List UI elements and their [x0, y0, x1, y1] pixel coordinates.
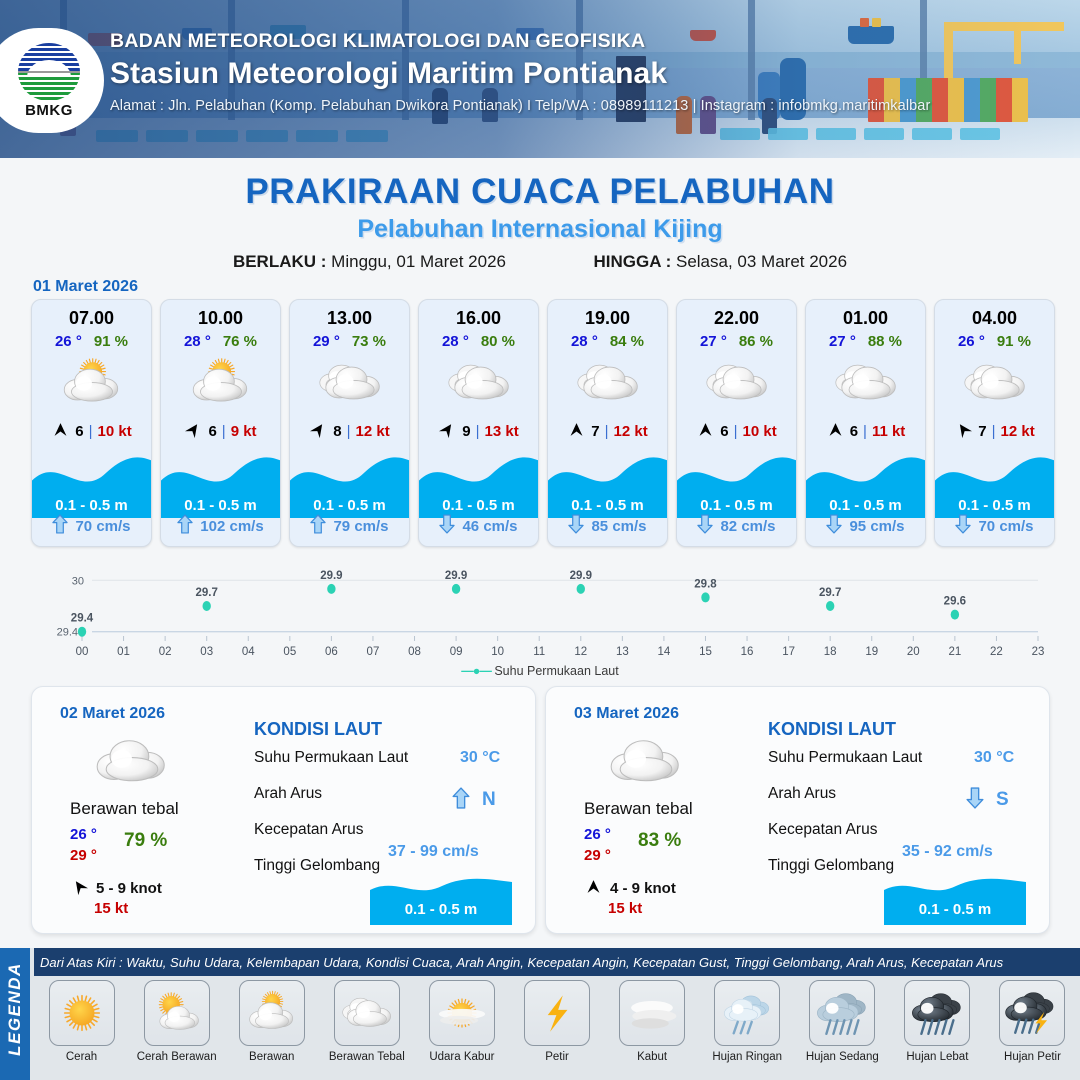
legend-item: Cerah: [34, 980, 129, 1063]
card-temperature: 26 °: [958, 333, 985, 350]
wave-graphic: 0.1 - 0.5 m 95 cm/s: [806, 452, 925, 546]
svg-text:20: 20: [907, 646, 920, 658]
legend-label: Hujan Ringan: [712, 1051, 782, 1063]
legend-label: Berawan Tebal: [329, 1051, 405, 1063]
panel-date: 02 Maret 2026: [60, 705, 165, 723]
legend-icon-light-rain: [714, 980, 780, 1046]
panel-wind: 4 - 9 knot: [584, 877, 676, 900]
page-title: PRAKIRAAN CUACA PELABUHAN: [0, 172, 1080, 212]
hourly-forecast-strip: 07.00 26 ° 91 % 6 | 10 k: [31, 299, 1055, 547]
legend-item: Berawan: [224, 980, 319, 1063]
current-direction-arrow: [452, 787, 470, 809]
sea-wave-value: 0.1 - 0.5 m: [884, 894, 1026, 925]
svg-text:23: 23: [1032, 646, 1045, 658]
separator: |: [605, 423, 609, 440]
weather-icon-cloudy: [419, 354, 538, 412]
wave-graphic: 0.1 - 0.5 m 85 cm/s: [548, 452, 667, 546]
card-gust: 13 kt: [485, 423, 519, 440]
panel-temp-max: 29 °: [70, 847, 97, 864]
card-current-speed: 79 cm/s: [333, 518, 388, 535]
legend-label: Hujan Petir: [1004, 1051, 1061, 1063]
legend-item: Petir: [509, 980, 604, 1063]
svg-text:21: 21: [948, 646, 961, 658]
card-current-speed: 70 cm/s: [75, 518, 130, 535]
card-gust: 10 kt: [743, 423, 777, 440]
hourly-card: 22.00 27 ° 86 %: [676, 299, 797, 547]
legend-item: Berawan Tebal: [319, 980, 414, 1063]
panel-gust: 15 kt: [94, 900, 128, 917]
card-gust: 12 kt: [614, 423, 648, 440]
sea-sst-value: 30 °C: [460, 749, 500, 767]
bmkg-logo-text: BMKG: [25, 102, 73, 119]
panel-condition: Berawan tebal: [584, 799, 693, 819]
legend-icon-haze: [429, 980, 495, 1046]
wind-arrow-wrap: [184, 420, 203, 443]
card-wind-number: 6: [720, 423, 728, 440]
wind-arrow-wrap: [567, 420, 586, 443]
sea-wave-value: 0.1 - 0.5 m: [370, 894, 512, 925]
hourly-card: 19.00 28 ° 84 %: [547, 299, 668, 547]
svg-text:00: 00: [76, 646, 89, 658]
svg-text:30: 30: [72, 575, 84, 587]
svg-text:29.8: 29.8: [694, 578, 717, 590]
svg-text:09: 09: [450, 646, 463, 658]
wind-arrow-wrap: [309, 420, 328, 443]
station-address: Alamat : Jln. Pelabuhan (Komp. Pelabuhan…: [110, 98, 930, 114]
current-direction-arrow: [52, 514, 68, 534]
legend-item: Hujan Lebat: [890, 980, 985, 1063]
weather-icon-cloudy: [935, 354, 1054, 412]
legend-icon-partly-cloudy: [239, 980, 305, 1046]
card-temperature: 28 °: [571, 333, 598, 350]
wind-direction-arrow: [438, 420, 457, 439]
current-arrow-wrap: [177, 514, 193, 538]
sea-row-label: Kecepatan Arus: [768, 821, 877, 839]
separator: |: [992, 423, 996, 440]
current-direction-arrow: [568, 514, 584, 534]
weather-icon-cloudy: [290, 354, 409, 412]
wind-arrow-wrap: [584, 877, 603, 900]
svg-text:29.7: 29.7: [819, 587, 841, 599]
card-humidity: 80 %: [481, 333, 515, 350]
svg-text:02: 02: [159, 646, 172, 658]
current-arrow-wrap: [826, 514, 842, 538]
legend-icon-cloudy: [334, 980, 400, 1046]
wind-direction-arrow: [696, 420, 715, 439]
wind-direction-arrow: [309, 420, 328, 439]
wind-arrow-wrap: [438, 420, 457, 443]
page-header: BMKG BADAN METEOROLOGI KLIMATOLOGI DAN G…: [0, 0, 1080, 158]
separator: |: [734, 423, 738, 440]
card-time: 13.00: [290, 308, 409, 329]
card-temperature: 28 °: [184, 333, 211, 350]
hingga-label: HINGGA :: [593, 252, 671, 271]
card-time: 10.00: [161, 308, 280, 329]
card-humidity: 91 %: [997, 333, 1031, 350]
sst-chart: 3029.40001020304050607080910111213141516…: [30, 560, 1050, 680]
legend-item: Kabut: [605, 980, 700, 1063]
hourly-card: 10.00 28 ° 76 % 6 | 9 kt: [160, 299, 281, 547]
wind-direction-arrow: [184, 420, 203, 439]
wind-direction-arrow: [567, 420, 586, 439]
legend-label: Hujan Sedang: [806, 1051, 879, 1063]
legend-icon-sun: [49, 980, 115, 1046]
panel-temp-max: 29 °: [584, 847, 611, 864]
current-direction-arrow: [826, 514, 842, 534]
separator: |: [476, 423, 480, 440]
legend-icon-moderate-rain: [809, 980, 875, 1046]
berlaku-label: BERLAKU :: [233, 252, 327, 271]
panel-temp-min: 26 °: [70, 826, 97, 843]
svg-text:29.7: 29.7: [196, 587, 218, 599]
panel-date: 03 Maret 2026: [574, 705, 679, 723]
daily-forecast-panel: 03 Maret 2026 Berawan tebal 26 ° 29 ° 83…: [545, 686, 1050, 934]
svg-text:11: 11: [533, 646, 545, 658]
sea-row-label: Tinggi Gelombang: [768, 857, 894, 875]
legend-icon-thunderstorm: [999, 980, 1065, 1046]
card-humidity: 91 %: [94, 333, 128, 350]
legend-icon-sun-cloud: [144, 980, 210, 1046]
legend-item: Hujan Petir: [985, 980, 1080, 1063]
svg-text:29.9: 29.9: [320, 570, 342, 582]
sea-row-label: Arah Arus: [768, 785, 836, 803]
legend-label: Kabut: [637, 1051, 667, 1063]
card-temperature: 27 °: [700, 333, 727, 350]
card-current-speed: 70 cm/s: [978, 518, 1033, 535]
panel-temp-min: 26 °: [584, 826, 611, 843]
validity-row: BERLAKU : Minggu, 01 Maret 2026 HINGGA :…: [0, 252, 1080, 272]
wave-graphic: 0.1 - 0.5 m 79 cm/s: [290, 452, 409, 546]
card-gust: 11 kt: [872, 423, 905, 440]
wind-arrow-wrap: [70, 877, 89, 900]
legend-label: Cerah Berawan: [137, 1051, 217, 1063]
card-time: 01.00: [806, 308, 925, 329]
daily-forecast-panel: 02 Maret 2026 Berawan tebal 26 ° 29 ° 79…: [31, 686, 536, 934]
card-humidity: 88 %: [868, 333, 902, 350]
card-gust: 12 kt: [1001, 423, 1035, 440]
sea-sst-value: 30 °C: [974, 749, 1014, 767]
card-current-speed: 102 cm/s: [200, 518, 263, 535]
card-current-speed: 82 cm/s: [720, 518, 775, 535]
svg-text:04: 04: [242, 646, 255, 658]
wave-graphic: 0.1 - 0.5 m 70 cm/s: [32, 452, 151, 546]
chart-legend: —●— Suhu Permukaan Laut: [0, 664, 1080, 678]
current-arrow-wrap: [697, 514, 713, 538]
current-direction-arrow: [310, 514, 326, 534]
sea-row-label: Tinggi Gelombang: [254, 857, 380, 875]
svg-text:07: 07: [367, 646, 380, 658]
wind-arrow-wrap: [51, 420, 70, 443]
card-humidity: 84 %: [610, 333, 644, 350]
card-wind-number: 6: [850, 423, 858, 440]
legend-item: Udara Kabur: [414, 980, 509, 1063]
card-wind-number: 7: [978, 423, 986, 440]
panel-wind: 5 - 9 knot: [70, 877, 162, 900]
hingga-value: Selasa, 03 Maret 2026: [676, 252, 847, 271]
sea-current-dir-arrow: [452, 787, 470, 814]
svg-text:18: 18: [824, 646, 837, 658]
separator: |: [347, 423, 351, 440]
wind-arrow-wrap: [826, 420, 845, 443]
svg-text:29.9: 29.9: [570, 570, 592, 582]
current-direction-arrow: [177, 514, 193, 534]
card-gust: 9 kt: [231, 423, 257, 440]
card-humidity: 73 %: [352, 333, 386, 350]
weather-icon-partly-cloudy: [161, 354, 280, 412]
legenda-title: LEGENDA: [5, 943, 25, 1075]
svg-text:22: 22: [990, 646, 1003, 658]
panel-wind-speed: 4 - 9 knot: [610, 880, 676, 897]
berlaku-value: Minggu, 01 Maret 2026: [331, 252, 506, 271]
card-wind-number: 9: [462, 423, 470, 440]
svg-text:17: 17: [782, 646, 795, 658]
sea-row-label: Suhu Permukaan Laut: [254, 749, 408, 767]
sea-conditions-title: KONDISI LAUT: [768, 719, 896, 740]
hourly-card: 07.00 26 ° 91 % 6 | 10 k: [31, 299, 152, 547]
hourly-card: 04.00 26 ° 91 %: [934, 299, 1055, 547]
card-time: 19.00: [548, 308, 667, 329]
bmkg-logo-icon: [18, 43, 80, 101]
current-arrow-wrap: [568, 514, 584, 538]
wave-graphic: 0.1 - 0.5 m 70 cm/s: [935, 452, 1054, 546]
current-direction-arrow: [955, 514, 971, 534]
current-arrow-wrap: [310, 514, 326, 538]
separator: |: [222, 423, 226, 440]
wave-graphic: 0.1 - 0.5 m 46 cm/s: [419, 452, 538, 546]
hourly-card: 16.00 28 ° 80 %: [418, 299, 539, 547]
card-time: 04.00: [935, 308, 1054, 329]
weather-icon-partly-cloudy: [32, 354, 151, 412]
separator: |: [89, 423, 93, 440]
legenda-section: LEGENDA Dari Atas Kiri : Waktu, Suhu Uda…: [0, 948, 1080, 1080]
legend-item: Hujan Sedang: [795, 980, 890, 1063]
wind-arrow-wrap: [954, 420, 973, 443]
svg-text:06: 06: [325, 646, 338, 658]
weather-icon-overcast: [92, 735, 172, 798]
card-temperature: 29 °: [313, 333, 340, 350]
panel-condition: Berawan tebal: [70, 799, 179, 819]
card-gust: 12 kt: [356, 423, 390, 440]
card-temperature: 28 °: [442, 333, 469, 350]
card-time: 22.00: [677, 308, 796, 329]
sea-current-speed-value: 35 - 92 cm/s: [902, 843, 993, 861]
current-arrow-wrap: [439, 514, 455, 538]
svg-text:15: 15: [699, 646, 712, 658]
wind-direction-arrow: [70, 877, 89, 896]
wind-direction-arrow: [51, 420, 70, 439]
sea-wave-graphic: 0.1 - 0.5 m: [884, 877, 1026, 925]
svg-text:13: 13: [616, 646, 629, 658]
legend-icon-fog: [619, 980, 685, 1046]
wind-direction-arrow: [826, 420, 845, 439]
card-current-speed: 85 cm/s: [591, 518, 646, 535]
card-wind-number: 6: [208, 423, 216, 440]
separator: |: [863, 423, 867, 440]
hourly-card: 13.00 29 ° 73 %: [289, 299, 410, 547]
card-time: 16.00: [419, 308, 538, 329]
svg-text:08: 08: [408, 646, 421, 658]
svg-text:01: 01: [117, 646, 130, 658]
wave-graphic: 0.1 - 0.5 m 102 cm/s: [161, 452, 280, 546]
wind-direction-arrow: [954, 420, 973, 439]
bmkg-logo: BMKG: [0, 28, 104, 133]
wave-graphic: 0.1 - 0.5 m 82 cm/s: [677, 452, 796, 546]
card-time: 07.00: [32, 308, 151, 329]
card-wind-number: 6: [75, 423, 83, 440]
legend-item: Cerah Berawan: [129, 980, 224, 1063]
panel-humidity: 83 %: [638, 830, 681, 852]
legenda-items: Cerah Cerah Berawan: [34, 980, 1080, 1063]
sea-current-speed-value: 37 - 99 cm/s: [388, 843, 479, 861]
sea-row-label: Kecepatan Arus: [254, 821, 363, 839]
legend-label: Cerah: [66, 1051, 97, 1063]
weather-icon-cloudy: [806, 354, 925, 412]
card-wind-number: 7: [591, 423, 599, 440]
card-temperature: 26 °: [55, 333, 82, 350]
svg-text:29.4: 29.4: [71, 613, 94, 625]
svg-text:10: 10: [491, 646, 504, 658]
chart-legend-label: Suhu Permukaan Laut: [494, 664, 618, 678]
weather-icon-overcast: [606, 735, 686, 798]
legenda-bar: LEGENDA: [0, 948, 30, 1080]
card-humidity: 86 %: [739, 333, 773, 350]
chart-legend-marker: —●—: [461, 664, 491, 678]
legend-item: Hujan Ringan: [700, 980, 795, 1063]
panel-gust: 15 kt: [608, 900, 642, 917]
current-arrow-wrap: [52, 514, 68, 538]
wind-arrow-wrap: [696, 420, 715, 443]
card-wind-number: 8: [333, 423, 341, 440]
panel-humidity: 79 %: [124, 830, 167, 852]
svg-text:12: 12: [574, 646, 587, 658]
svg-text:16: 16: [741, 646, 754, 658]
svg-text:29.4: 29.4: [57, 627, 78, 639]
card-gust: 10 kt: [98, 423, 132, 440]
weather-icon-cloudy: [677, 354, 796, 412]
svg-text:14: 14: [658, 646, 671, 658]
sea-current-dir-arrow: [966, 787, 984, 814]
svg-text:29.9: 29.9: [445, 570, 467, 582]
sea-row-label: Arah Arus: [254, 785, 322, 803]
hourly-date-label: 01 Maret 2026: [33, 278, 138, 296]
sst-chart-svg: 3029.40001020304050607080910111213141516…: [30, 560, 1050, 680]
svg-text:19: 19: [865, 646, 878, 658]
legend-icon-lightning: [524, 980, 590, 1046]
sea-wave-graphic: 0.1 - 0.5 m: [370, 877, 512, 925]
card-current-speed: 46 cm/s: [462, 518, 517, 535]
page-subtitle: Pelabuhan Internasional Kijing: [0, 215, 1080, 244]
sea-current-dir-value: N: [482, 789, 496, 811]
svg-text:29.6: 29.6: [944, 596, 966, 608]
weather-icon-cloudy: [548, 354, 667, 412]
current-arrow-wrap: [955, 514, 971, 538]
panel-wind-speed: 5 - 9 knot: [96, 880, 162, 897]
legend-label: Hujan Lebat: [906, 1051, 968, 1063]
legend-label: Udara Kabur: [429, 1051, 494, 1063]
current-direction-arrow: [966, 787, 984, 809]
card-temperature: 27 °: [829, 333, 856, 350]
wind-direction-arrow: [584, 877, 603, 896]
svg-text:03: 03: [200, 646, 213, 658]
card-current-speed: 95 cm/s: [849, 518, 904, 535]
agency-name: BADAN METEOROLOGI KLIMATOLOGI DAN GEOFIS…: [110, 30, 930, 53]
legend-label: Petir: [545, 1051, 569, 1063]
card-humidity: 76 %: [223, 333, 257, 350]
sea-conditions-title: KONDISI LAUT: [254, 719, 382, 740]
current-direction-arrow: [697, 514, 713, 534]
svg-text:05: 05: [283, 646, 296, 658]
sea-row-label: Suhu Permukaan Laut: [768, 749, 922, 767]
hourly-card: 01.00 27 ° 88 %: [805, 299, 926, 547]
current-direction-arrow: [439, 514, 455, 534]
sea-current-dir-value: S: [996, 789, 1009, 811]
station-name: Stasiun Meteorologi Maritim Pontianak: [110, 57, 930, 91]
legend-label: Berawan: [249, 1051, 294, 1063]
legend-icon-heavy-rain: [904, 980, 970, 1046]
legenda-note: Dari Atas Kiri : Waktu, Suhu Udara, Kele…: [34, 948, 1080, 976]
